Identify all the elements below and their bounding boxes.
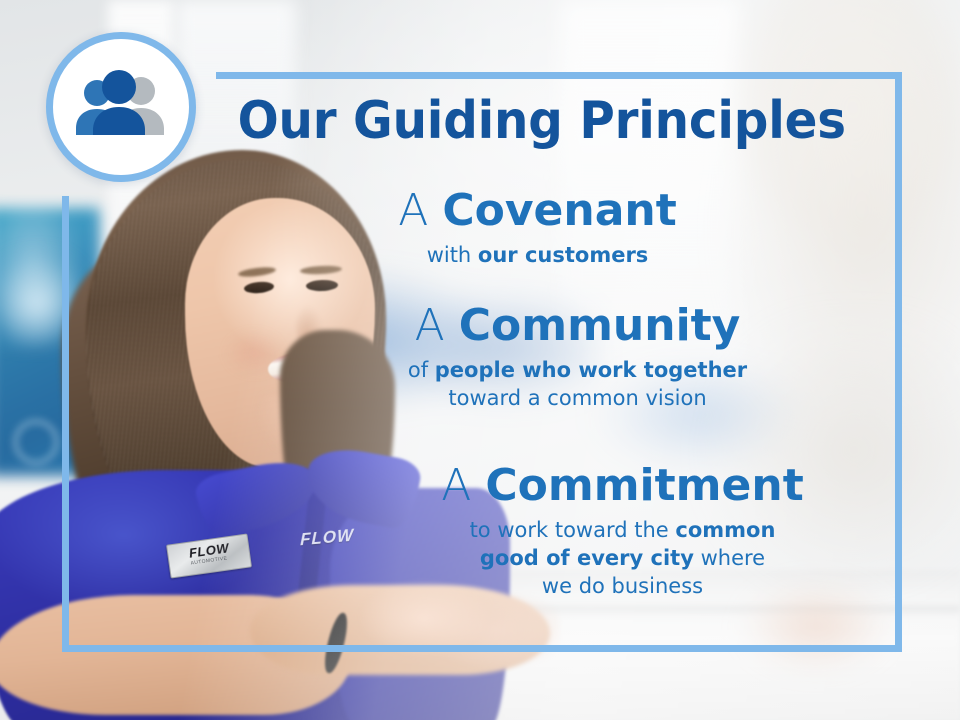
poster-canvas: FLOW FLOW AUTOMOTIVE — [0, 0, 960, 720]
principle-subtext-line: with our customers — [215, 241, 860, 269]
principle-subtext-part-bold: common — [675, 518, 775, 542]
principle-subtext-line: of people who work together — [255, 356, 900, 384]
principle-subtext-part-bold: good of every city — [480, 546, 694, 570]
principle-subtext-part-bold: people who work together — [435, 358, 747, 382]
principle-subtext: of people who work together toward a com… — [255, 356, 900, 413]
principle-heading: A Commitment — [300, 463, 945, 510]
principle-heading: A Community — [255, 303, 900, 350]
principle-article: A — [398, 185, 442, 236]
principle-keyword: Covenant — [442, 185, 676, 236]
principle-subtext-part: to work toward the — [470, 518, 676, 542]
principle-subtext-part: where — [694, 546, 765, 570]
principle-community: A Community of people who work together … — [255, 303, 900, 412]
principle-commitment: A Commitment to work toward the common g… — [300, 463, 945, 601]
page-title: Our Guiding Principles — [238, 95, 838, 147]
principle-subtext-part: toward a common vision — [448, 386, 706, 410]
principle-covenant: A Covenant with our customers — [215, 188, 860, 269]
principle-keyword: Commitment — [485, 460, 803, 511]
principle-keyword: Community — [459, 300, 741, 351]
principle-subtext-line: to work toward the common — [300, 516, 945, 544]
principle-subtext: with our customers — [215, 241, 860, 269]
principle-article: A — [441, 460, 485, 511]
principle-subtext-line: good of every city where — [300, 544, 945, 572]
principle-subtext-part: of — [408, 358, 435, 382]
poster-text-content: Our Guiding Principles A Covenant with o… — [0, 0, 960, 720]
principle-subtext-line: we do business — [300, 572, 945, 600]
principle-subtext-part: with — [427, 243, 478, 267]
principle-subtext-part-bold: our customers — [478, 243, 648, 267]
principle-subtext-part: we do business — [542, 574, 703, 598]
principle-subtext-line: toward a common vision — [255, 384, 900, 412]
principle-article: A — [415, 300, 459, 351]
principle-heading: A Covenant — [215, 188, 860, 235]
principle-subtext: to work toward the common good of every … — [300, 516, 945, 601]
